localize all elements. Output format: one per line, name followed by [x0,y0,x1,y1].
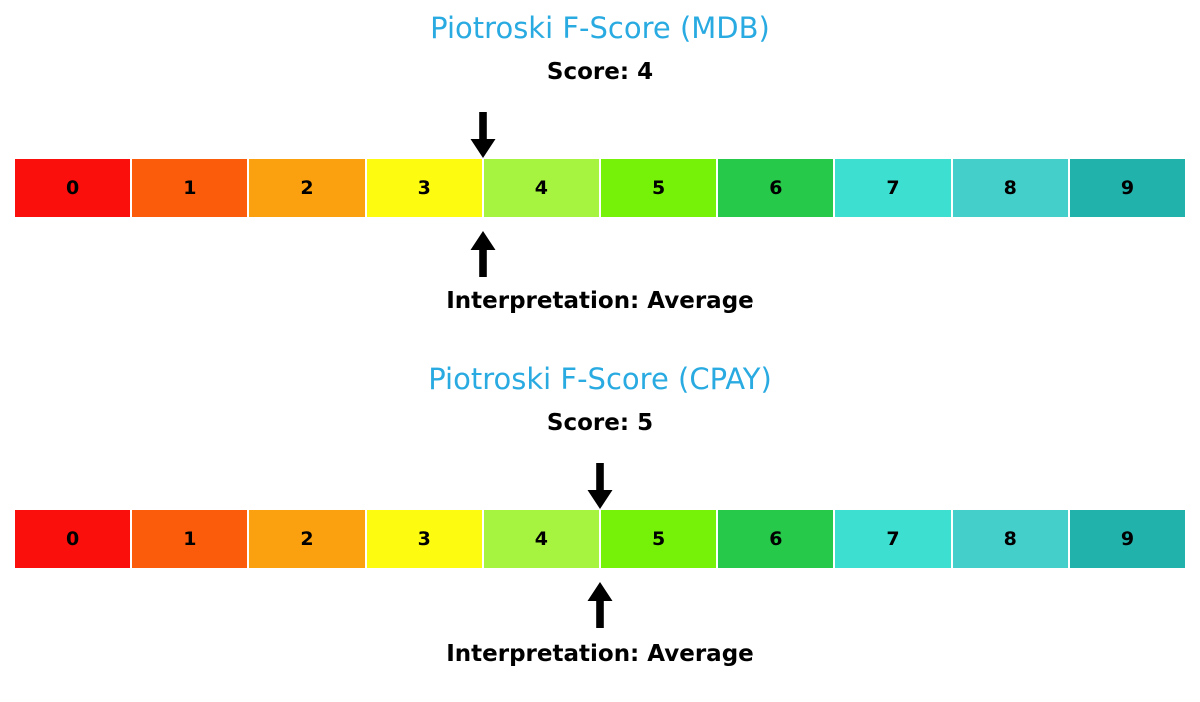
scale-segment-label: 6 [769,530,782,549]
scale-segment-7[interactable]: 7 [834,159,951,217]
scale-segment-1[interactable]: 1 [131,159,248,217]
scale-segment-label: 1 [183,179,196,198]
scale-segment-3[interactable]: 3 [366,510,483,568]
scale-segment-2[interactable]: 2 [248,510,365,568]
scale-segment-label: 8 [1004,179,1017,198]
scale-segment-4[interactable]: 4 [483,510,600,568]
scale-segment-6[interactable]: 6 [717,159,834,217]
interpretation-label: Interpretation: Average [0,643,1200,666]
arrow-up-icon [466,231,500,277]
scale-segment-label: 8 [1004,530,1017,549]
scale-segment-label: 0 [66,530,79,549]
scale-segment-2[interactable]: 2 [248,159,365,217]
scale-segment-label: 2 [300,179,313,198]
gauge-block-cpay: Piotroski F-Score (CPAY) Score: 5 0 1 2 … [0,351,1200,681]
gauge-block-mdb: Piotroski F-Score (MDB) Score: 4 0 1 2 3… [0,0,1200,330]
arrow-down-icon [583,463,617,509]
scale-segment-label: 7 [886,179,899,198]
scale-segment-9[interactable]: 9 [1069,159,1185,217]
scale-segment-label: 3 [418,179,431,198]
scale-segment-8[interactable]: 8 [952,159,1069,217]
gauge-title: Piotroski F-Score (MDB) [0,14,1200,43]
interpretation-label: Interpretation: Average [0,290,1200,313]
scale-segment-1[interactable]: 1 [131,510,248,568]
scale-segment-5[interactable]: 5 [600,159,717,217]
scale-segment-label: 4 [535,530,548,549]
scale-segment-label: 7 [886,530,899,549]
scale-segment-8[interactable]: 8 [952,510,1069,568]
scale-segment-label: 6 [769,179,782,198]
scale-segment-7[interactable]: 7 [834,510,951,568]
gauge-title: Piotroski F-Score (CPAY) [0,365,1200,394]
scale-segment-0[interactable]: 0 [15,510,131,568]
scale-segment-label: 3 [418,530,431,549]
score-label: Score: 5 [0,412,1200,435]
scale-segment-0[interactable]: 0 [15,159,131,217]
scale-segment-4[interactable]: 4 [483,159,600,217]
scale-segment-label: 0 [66,179,79,198]
scale-segment-label: 5 [652,179,665,198]
scale-segment-6[interactable]: 6 [717,510,834,568]
score-scale-bar: 0 1 2 3 4 5 6 7 8 9 [15,510,1185,568]
scale-segment-3[interactable]: 3 [366,159,483,217]
scale-segment-label: 9 [1121,530,1134,549]
scale-segment-label: 5 [652,530,665,549]
arrow-up-icon [583,582,617,628]
scale-segment-label: 4 [535,179,548,198]
scale-segment-label: 2 [300,530,313,549]
scale-segment-5[interactable]: 5 [600,510,717,568]
scale-segment-label: 9 [1121,179,1134,198]
score-scale-bar: 0 1 2 3 4 5 6 7 8 9 [15,159,1185,217]
score-label: Score: 4 [0,61,1200,84]
arrow-down-icon [466,112,500,158]
scale-segment-9[interactable]: 9 [1069,510,1185,568]
scale-segment-label: 1 [183,530,196,549]
